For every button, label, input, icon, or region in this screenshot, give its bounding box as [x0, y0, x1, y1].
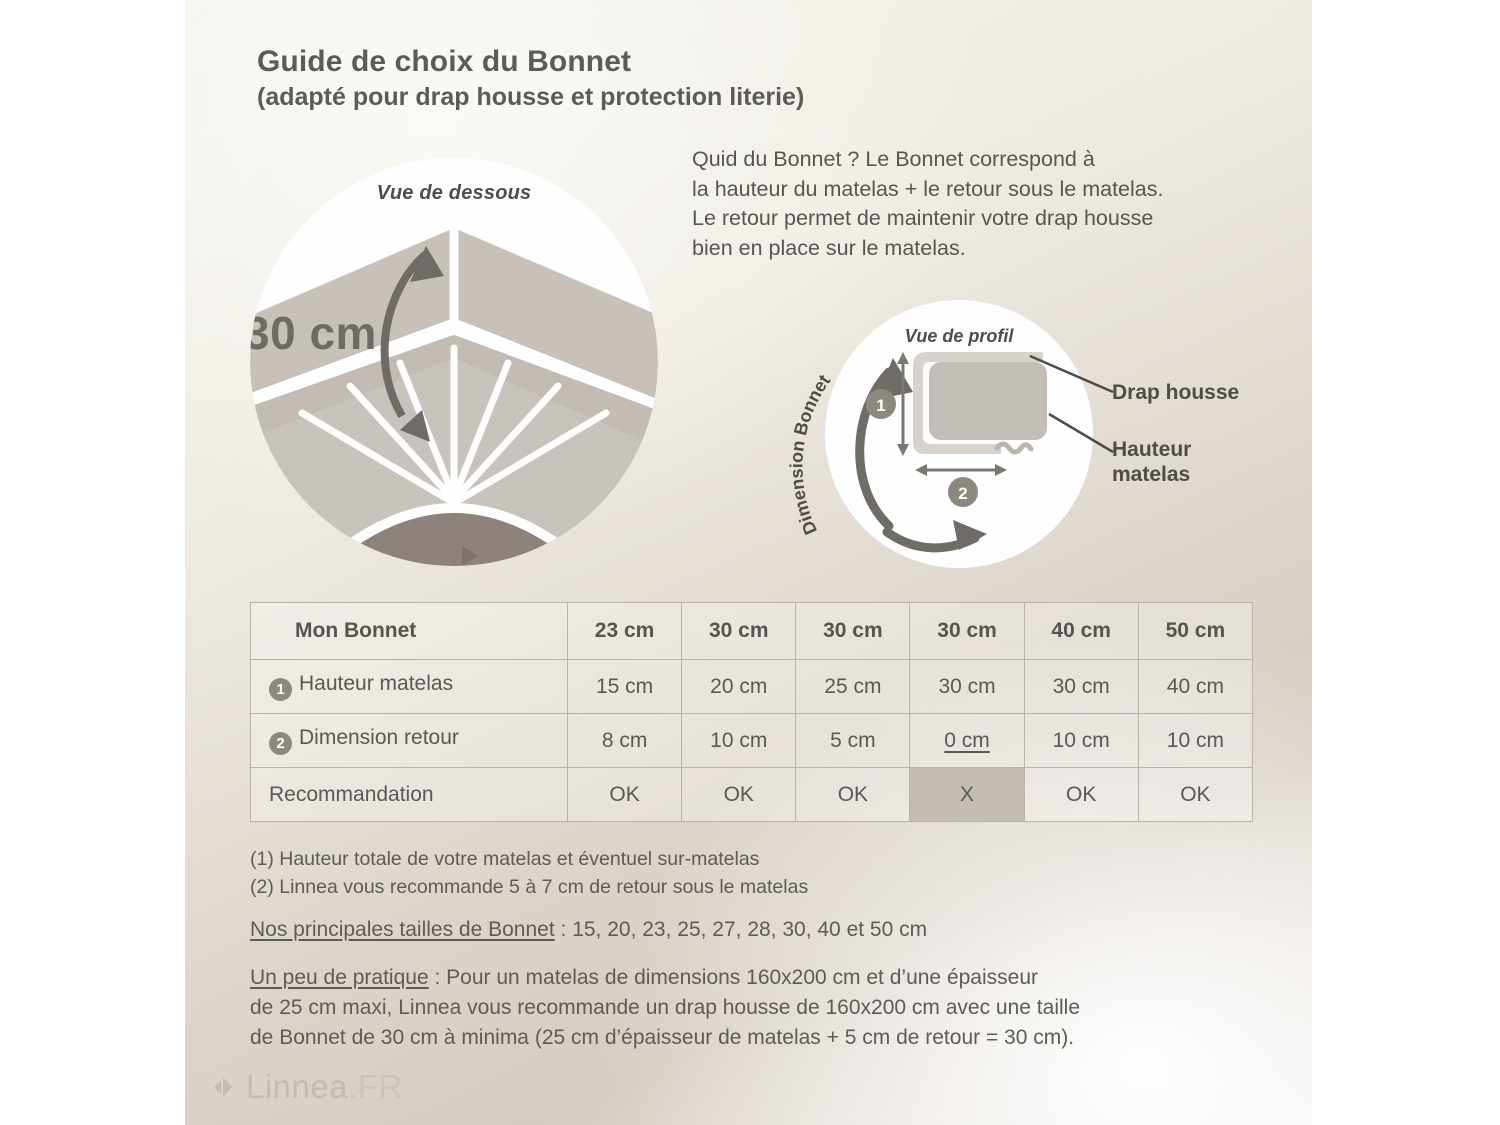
available-sizes-values: : 15, 20, 23, 25, 27, 28, 30, 40 et 50 c…	[555, 918, 927, 941]
callout-hauteur-matelas: Hauteur matelas	[1112, 438, 1191, 488]
row-badge-2: 2	[269, 732, 292, 755]
table-header-cell: 40 cm	[1024, 603, 1138, 660]
artboard: Guide de choix du Bonnet (adapté pour dr…	[185, 0, 1312, 1125]
table-cell: OK	[568, 768, 682, 822]
svg-text:1: 1	[876, 396, 885, 415]
elastic-icon	[997, 444, 1031, 452]
practical-example-line-1: : Pour un matelas de dimensions 160x200 …	[429, 966, 1038, 989]
table-row: 1Hauteur matelas 15 cm 20 cm 25 cm 30 cm…	[251, 660, 1253, 714]
row-label-text: Dimension retour	[299, 726, 459, 749]
infographic-canvas: Guide de choix du Bonnet (adapté pour dr…	[0, 0, 1500, 1125]
mattress-shape	[929, 362, 1047, 440]
table-cell-highlighted: 0 cm	[910, 714, 1024, 768]
table-cell-not-recommended: X	[910, 768, 1024, 822]
intro-line-4: bien en place sur le matelas.	[692, 234, 1282, 264]
linnea-diamond-icon	[209, 1073, 237, 1101]
table-header-label: Mon Bonnet	[251, 603, 568, 660]
logo-tld: .FR	[348, 1068, 403, 1105]
table-cell: 8 cm	[568, 714, 682, 768]
linnea-logo[interactable]: Linnea.FR	[209, 1068, 403, 1106]
measure-vertical	[897, 352, 909, 456]
callout-hauteur-line-1: Hauteur	[1112, 438, 1191, 463]
table-cell: 5 cm	[796, 714, 910, 768]
callout-hauteur-line-2: matelas	[1112, 463, 1191, 488]
table-cell: 20 cm	[682, 660, 796, 714]
diagram-bottom-view: Vue de dessous 30 cm	[250, 158, 658, 566]
row-label-text: Recommandation	[269, 783, 434, 806]
intro-line-1: Quid du Bonnet ? Le Bonnet correspond à	[692, 145, 1282, 175]
bonnet-size-table: Mon Bonnet 23 cm 30 cm 30 cm 30 cm 40 cm…	[250, 602, 1253, 822]
available-sizes-label: Nos principales tailles de Bonnet	[250, 918, 555, 941]
table-row: 2Dimension retour 8 cm 10 cm 5 cm 0 cm 1…	[251, 714, 1253, 768]
logo-wordmark: Linnea.FR	[246, 1068, 403, 1106]
table-header-cell: 30 cm	[682, 603, 796, 660]
table-header-cell: 23 cm	[568, 603, 682, 660]
measure-horizontal	[915, 464, 1007, 476]
table-row-label: Recommandation	[251, 768, 568, 822]
table-cell: 15 cm	[568, 660, 682, 714]
intro-line-3: Le retour permet de maintenir votre drap…	[692, 204, 1282, 234]
intro-line-2: la hauteur du matelas + le retour sous l…	[692, 175, 1282, 205]
table-cell: 40 cm	[1138, 660, 1252, 714]
practical-example-line-3: de Bonnet de 30 cm à minima (25 cm d’épa…	[250, 1023, 1080, 1053]
table-cell: OK	[1138, 768, 1252, 822]
footnote-2: (2) Linnea vous recommande 5 à 7 cm de r…	[250, 873, 808, 901]
practical-example: Un peu de pratique : Pour un matelas de …	[250, 963, 1080, 1052]
profile-badge-1: 1	[866, 389, 896, 419]
page-title: Guide de choix du Bonnet	[257, 44, 804, 79]
table-cell: 30 cm	[1024, 660, 1138, 714]
table-header-row: Mon Bonnet 23 cm 30 cm 30 cm 30 cm 40 cm…	[251, 603, 1253, 660]
table-header-cell: 50 cm	[1138, 603, 1252, 660]
table-cell: 10 cm	[1138, 714, 1252, 768]
table-cell: OK	[796, 768, 910, 822]
table-cell: OK	[682, 768, 796, 822]
bottom-view-label: Vue de dessous	[250, 182, 658, 205]
row-badge-1: 1	[269, 678, 292, 701]
footnotes: (1) Hauteur totale de votre matelas et é…	[250, 845, 808, 902]
table-cell: 30 cm	[910, 660, 1024, 714]
table-body: 1Hauteur matelas 15 cm 20 cm 25 cm 30 cm…	[251, 660, 1253, 822]
table-header-cell: 30 cm	[796, 603, 910, 660]
svg-text:2: 2	[958, 484, 967, 503]
table-head: Mon Bonnet 23 cm 30 cm 30 cm 30 cm 40 cm…	[251, 603, 1253, 660]
available-sizes-line: Nos principales tailles de Bonnet : 15, …	[250, 915, 927, 945]
callout-drap-housse: Drap housse	[1112, 381, 1239, 406]
profile-view-label: Vue de profil	[825, 326, 1093, 347]
table-row-label: 2Dimension retour	[251, 714, 568, 768]
table-row-label: 1Hauteur matelas	[251, 660, 568, 714]
profile-badge-2: 2	[948, 477, 978, 507]
table-cell: 10 cm	[1024, 714, 1138, 768]
table-header-cell: 30 cm	[910, 603, 1024, 660]
intro-paragraph: Quid du Bonnet ? Le Bonnet correspond à …	[692, 145, 1282, 264]
row-label-text: Hauteur matelas	[299, 672, 453, 695]
table-cell: 10 cm	[682, 714, 796, 768]
title-block: Guide de choix du Bonnet (adapté pour dr…	[257, 44, 804, 113]
table-cell: OK	[1024, 768, 1138, 822]
bottom-view-illustration	[250, 158, 658, 566]
dimension-bonnet-label: Dimension Bonnet	[786, 371, 834, 538]
practical-example-label: Un peu de pratique	[250, 966, 429, 989]
table-row: Recommandation OK OK OK X OK OK	[251, 768, 1253, 822]
logo-name: Linnea	[246, 1068, 348, 1105]
table-cell-underlined-value: 0 cm	[944, 729, 990, 752]
bottom-view-measure: 30 cm	[250, 306, 377, 360]
page-subtitle: (adapté pour drap housse et protection l…	[257, 83, 804, 113]
practical-example-line-2: de 25 cm maxi, Linnea vous recommande un…	[250, 993, 1080, 1023]
table-cell: 25 cm	[796, 660, 910, 714]
diagram-profile-view: Dimension Bonnet	[825, 300, 1093, 568]
footnote-1: (1) Hauteur totale de votre matelas et é…	[250, 845, 808, 873]
